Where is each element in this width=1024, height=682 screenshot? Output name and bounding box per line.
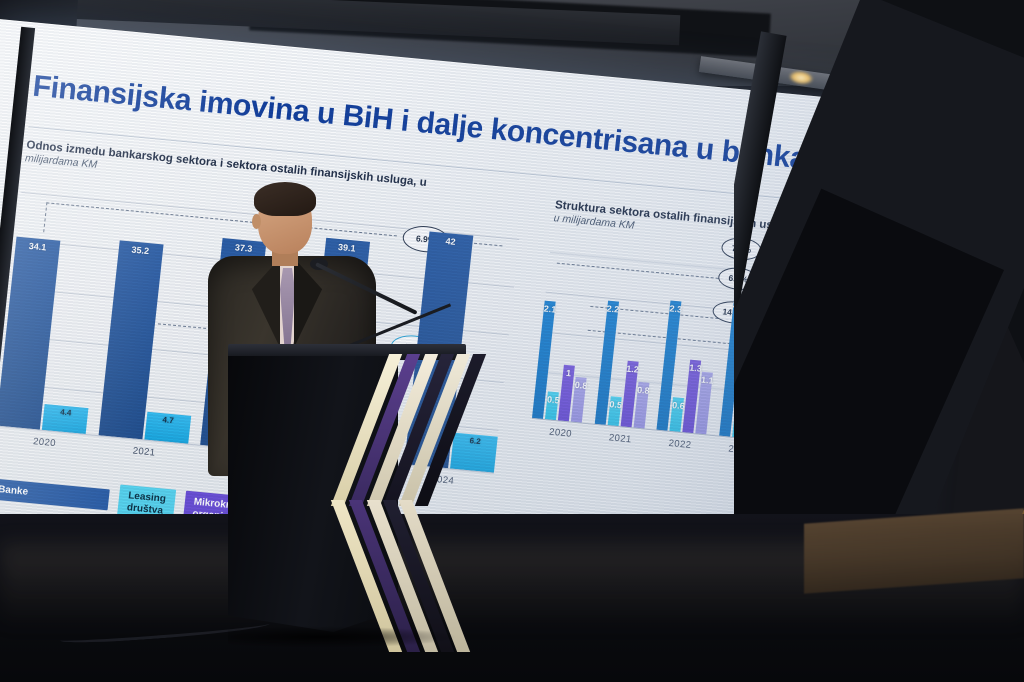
bar-s4-2021: 0.8	[633, 381, 649, 428]
bar-value: 1.1	[701, 374, 713, 385]
bar-value: 2.3	[669, 303, 681, 314]
podium	[228, 344, 466, 634]
podium-shadow	[228, 626, 458, 648]
bar-value: 42	[428, 234, 473, 248]
xtick: 2020	[0, 432, 95, 452]
bar-s2-2022: 0.6	[669, 397, 684, 432]
stage-floor	[0, 514, 1024, 682]
bar-ofs-2020: 4.4	[42, 404, 89, 434]
xtick: 2021	[94, 441, 195, 461]
conference-photo: Finansijska imovina u BiH i dalje koncen…	[0, 0, 1024, 682]
bar-value: 35.2	[118, 243, 163, 257]
bar-value: 1.2	[626, 363, 638, 374]
speaker-hair	[254, 182, 316, 216]
bar-ofs-2021: 4.7	[144, 411, 191, 443]
bar-value: 0.6	[672, 400, 684, 411]
bar-s2-2021: 0.5	[607, 396, 621, 426]
bar-value: 0.8	[574, 379, 586, 390]
bar-value: 2.1	[543, 303, 555, 314]
bar-banke-2021: 35.2	[98, 240, 163, 439]
bar-s2-2020: 0.5	[545, 391, 559, 420]
speaker-ear	[252, 214, 261, 229]
xtick: 2022	[650, 436, 711, 453]
bar-group-2021: 2.2 0.5 1.2 0.8	[594, 245, 663, 428]
legend-item-banke: Banke	[0, 478, 110, 511]
podium-chevron-dark-2	[444, 354, 474, 634]
bar-value: 1	[563, 367, 575, 378]
bar-value: 0.5	[547, 394, 559, 405]
bar-value: 1.3	[689, 362, 701, 373]
bar-value: 0.8	[637, 384, 649, 395]
bar-value: 2.2	[606, 303, 618, 314]
stage-right-structure	[734, 0, 1024, 590]
bar-value: 4.7	[146, 413, 191, 426]
bar-value: 0.5	[609, 399, 621, 410]
bar-value: 34.1	[15, 239, 60, 253]
bar-group-2020: 34.1 4.4	[0, 181, 112, 433]
xtick: 2020	[530, 424, 591, 441]
bar-group-2022: 2.3 0.6 1.3 1.1	[657, 251, 726, 434]
bar-group-2020: 2.1 0.5 1 0.8	[532, 239, 601, 422]
bar-value: 4.4	[44, 405, 89, 418]
xtick: 2021	[590, 430, 651, 447]
bar-s4-2020: 0.8	[571, 376, 587, 422]
